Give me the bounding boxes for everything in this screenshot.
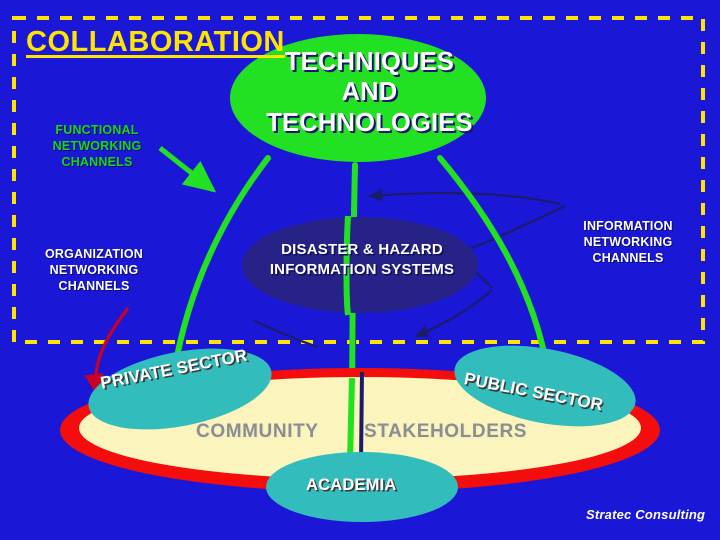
academia-label: ACADEMIA [306, 477, 397, 495]
green-channel-to-academia [350, 378, 352, 462]
disaster-hazard-label: DISASTER & HAZARD INFORMATION SYSTEMS [238, 240, 486, 280]
community-label: COMMUNITY [196, 422, 319, 443]
functional-networking-label: FUNCTIONAL NETWORKING CHANNELS [38, 123, 156, 170]
information-networking-label: INFORMATION NETWORKING CHANNELS [560, 219, 696, 266]
stakeholders-label: STAKEHOLDERS [364, 422, 527, 443]
functional-networking-arrow [160, 148, 213, 190]
slide-canvas: COLLABORATION FUNCTIONAL NETWORKING CHAN… [0, 0, 720, 540]
footer-attribution: Stratec Consulting [586, 508, 705, 522]
techniques-technologies-label: TECHNIQUES AND TECHNOLOGIES [243, 47, 496, 138]
navy-spine-to-academia [361, 372, 362, 462]
organization-networking-label: ORGANIZATION NETWORKING CHANNELS [24, 247, 164, 294]
